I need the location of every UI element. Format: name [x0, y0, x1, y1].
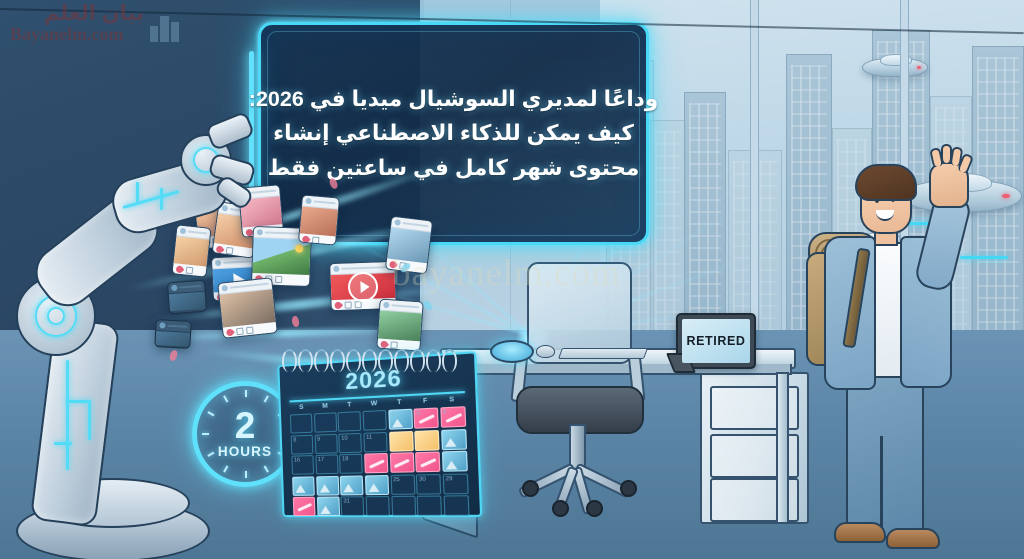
- calendar-weekday: W: [361, 399, 386, 408]
- calendar-day-cell[interactable]: 25: [390, 474, 415, 494]
- person-legs: [846, 364, 924, 538]
- calendar-spiral-binding: [282, 349, 462, 371]
- calendar-day-cell[interactable]: 5: [414, 407, 440, 428]
- tablet-screen: RETIRED: [682, 319, 750, 363]
- person-shoe: [886, 528, 940, 549]
- calendar-day-cell[interactable]: [292, 476, 315, 496]
- calendar-day-cell[interactable]: [391, 496, 416, 516]
- desk-hologram-projector: [490, 340, 534, 363]
- calendar-day-cell[interactable]: [417, 495, 443, 515]
- calendar-day-cell[interactable]: 4: [388, 409, 413, 430]
- calendar-day-cell[interactable]: 11: [363, 431, 387, 452]
- calendar-day-cell[interactable]: [364, 453, 388, 473]
- calendar-day-cell[interactable]: [290, 413, 313, 433]
- content-calendar: 2026 SMTWTFS 4568910111617182225302931: [272, 345, 472, 530]
- person-hair: [855, 164, 917, 201]
- computer-mouse: [536, 345, 555, 358]
- calendar-day-cell[interactable]: 31: [341, 496, 365, 516]
- calendar-coil: [298, 349, 313, 372]
- calendar-day-cell[interactable]: [316, 475, 339, 495]
- calendar-day-cell[interactable]: [338, 411, 362, 432]
- calendar-day-cell[interactable]: 18: [339, 454, 363, 474]
- calendar-day-cell[interactable]: 17: [315, 454, 338, 474]
- play-icon[interactable]: [360, 280, 369, 292]
- calendar-coil: [426, 349, 441, 372]
- person-shoe: [834, 522, 886, 543]
- robot-finger: [205, 111, 256, 152]
- calendar-day-cell[interactable]: [317, 496, 340, 516]
- desk-cabinet: [700, 372, 809, 524]
- clock-label: HOURS: [218, 444, 272, 459]
- calendar-day-cell[interactable]: 22: [365, 474, 389, 494]
- person-leg-seam: [880, 436, 883, 531]
- watermark-logo-icon: [150, 8, 180, 42]
- watermark-latin: Bayanelm.com: [10, 24, 123, 45]
- calendar-weekday: M: [313, 402, 337, 410]
- headline-line-1: وداعًا لمديري السوشيال ميديا في 2026:: [249, 85, 658, 114]
- calendar-day-cell[interactable]: 29: [443, 473, 469, 494]
- calendar-day-cell[interactable]: 10: [339, 432, 363, 452]
- calendar-day-cell[interactable]: [414, 429, 440, 450]
- calendar-day-cell[interactable]: 8: [291, 434, 314, 454]
- chair-wheel: [552, 500, 569, 517]
- tablet-device[interactable]: RETIRED: [676, 313, 756, 369]
- calendar-day-grid: 4568910111617182225302931: [290, 406, 470, 516]
- calendar-day-cell[interactable]: [293, 497, 316, 516]
- keyboard: [558, 348, 648, 359]
- chair-wheel: [522, 480, 539, 497]
- flying-vehicle: [862, 58, 928, 77]
- calendar-coil: [394, 349, 409, 372]
- calendar-face: 2026 SMTWTFS 4568910111617182225302931: [277, 351, 482, 517]
- calendar-coil: [330, 349, 345, 372]
- robotic-arm: [0, 70, 244, 559]
- calendar-day-cell[interactable]: [314, 412, 337, 432]
- calendar-day-cell[interactable]: [415, 451, 441, 472]
- sun-icon: [295, 244, 303, 252]
- headline-line-2: كيف يمكن للذكاء الاصطناعي إنشاء: [273, 119, 634, 148]
- calendar-day-cell[interactable]: [441, 428, 467, 449]
- calendar-day-cell[interactable]: 9: [314, 433, 337, 453]
- post-landscape-image: [252, 238, 310, 275]
- waving-person: [800, 136, 990, 559]
- retired-label: RETIRED: [686, 334, 745, 348]
- calendar-coil: [378, 349, 393, 372]
- headline-line-3: محتوى شهر كامل في ساعتين فقط: [268, 154, 640, 183]
- post-video-thumb: [331, 273, 396, 300]
- watermark-arabic: بيان العلم: [44, 1, 144, 26]
- social-post-card[interactable]: [376, 299, 423, 352]
- calendar-weekday: S: [290, 403, 314, 411]
- calendar-day-cell[interactable]: 6: [440, 406, 466, 428]
- desk-leg: [776, 372, 789, 524]
- calendar-day-cell[interactable]: 30: [416, 473, 442, 494]
- clock-number: 2: [235, 409, 256, 443]
- calendar-weekday: T: [386, 398, 412, 407]
- calendar-day-cell[interactable]: [340, 475, 364, 495]
- calendar-coil: [410, 349, 425, 372]
- center-watermark: bayanelm.com: [392, 252, 672, 298]
- calendar-coil: [442, 349, 457, 372]
- calendar-coil: [282, 349, 297, 372]
- calendar-weekday: S: [438, 395, 465, 404]
- brand-watermark: بيان العلم Bayanelm.com: [4, 2, 182, 46]
- calendar-day-cell[interactable]: 16: [291, 455, 314, 475]
- chair-wheel: [620, 480, 637, 497]
- illustration-canvas: RETIRED وداعًا لمديري السوشيال ميديا في: [0, 0, 1024, 559]
- calendar-day-cell[interactable]: [366, 496, 390, 516]
- calendar-day-cell[interactable]: [442, 451, 468, 472]
- calendar-coil: [314, 349, 329, 372]
- calendar-weekday: F: [412, 397, 438, 406]
- calendar-coil: [362, 349, 377, 372]
- calendar-day-cell[interactable]: [363, 410, 387, 431]
- calendar-coil: [346, 349, 361, 372]
- calendar-day-cell[interactable]: [389, 430, 414, 451]
- social-post-card[interactable]: [298, 194, 340, 245]
- chair-wheel: [586, 500, 603, 517]
- calendar-weekday: T: [337, 401, 362, 409]
- calendar-day-cell[interactable]: [443, 495, 469, 516]
- calendar-day-cell[interactable]: [389, 452, 414, 473]
